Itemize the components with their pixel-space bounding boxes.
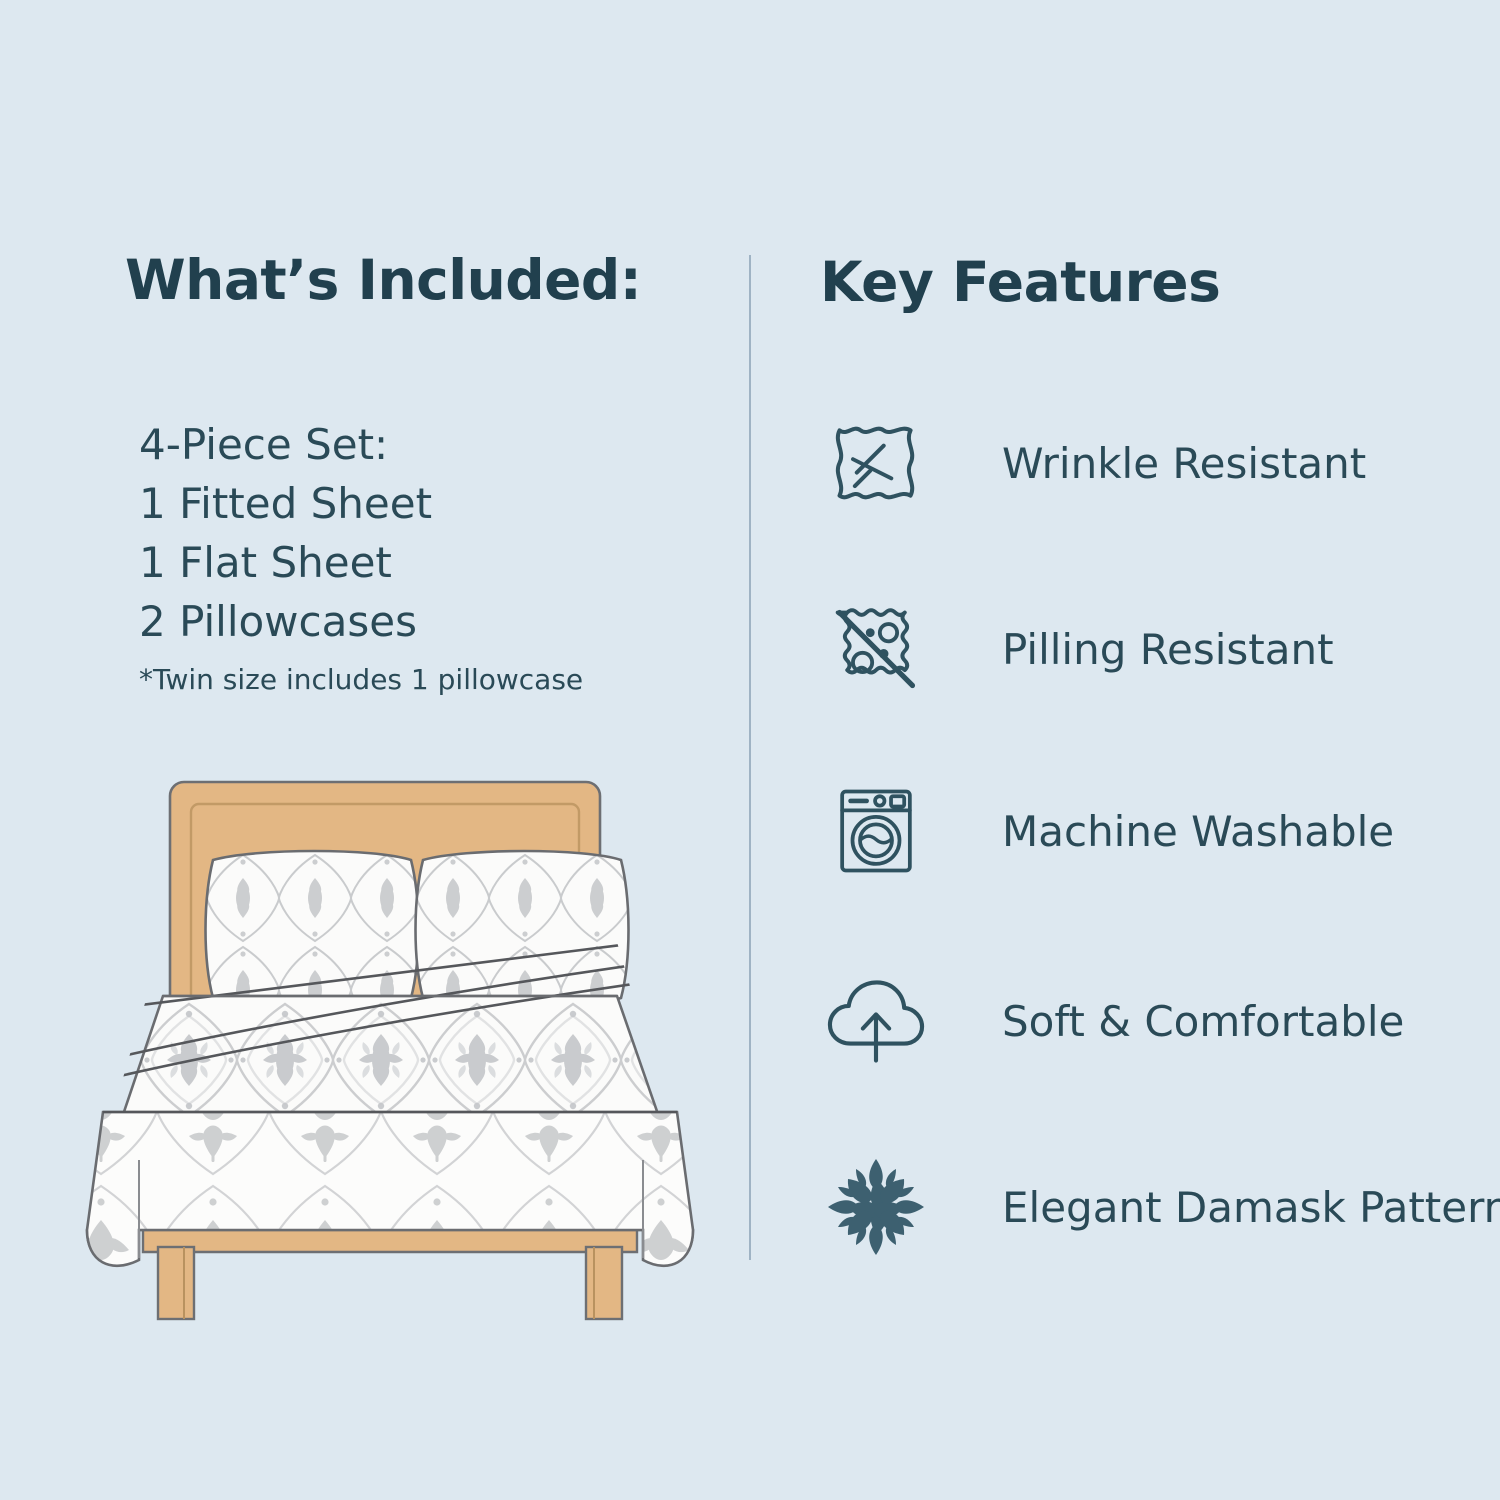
whats-included-section: What’s Included: 4-Piece Set: 1 Fitted S… bbox=[0, 0, 750, 1500]
list-item: 1 Fitted Sheet bbox=[139, 474, 699, 533]
feature-item-wrinkle-resistant: Wrinkle Resistant bbox=[822, 408, 1500, 518]
wrinkle-free-fabric-icon bbox=[822, 411, 930, 515]
no-pilling-fabric-icon bbox=[822, 597, 930, 701]
leg-right bbox=[586, 1247, 622, 1319]
feature-item-damask-pattern: Elegant Damask Pattern bbox=[822, 1152, 1500, 1262]
list-item: 4-Piece Set: bbox=[139, 415, 699, 474]
infographic-canvas: What’s Included: 4-Piece Set: 1 Fitted S… bbox=[0, 0, 1500, 1500]
soft-cloud-icon bbox=[822, 969, 930, 1073]
page-title-key-features: Key Features bbox=[820, 250, 1220, 314]
bed-illustration bbox=[45, 760, 735, 1330]
feature-item-machine-washable: Machine Washable bbox=[822, 776, 1500, 886]
damask-ornament-icon bbox=[822, 1155, 930, 1259]
feature-item-pilling-resistant: Pilling Resistant bbox=[822, 594, 1500, 704]
list-item: 2 Pillowcases bbox=[139, 592, 699, 651]
pillow-right bbox=[416, 851, 629, 1007]
included-items-list: 4-Piece Set: 1 Fitted Sheet 1 Flat Sheet… bbox=[139, 415, 699, 651]
feature-label: Pilling Resistant bbox=[1002, 625, 1334, 674]
list-item: 1 Flat Sheet bbox=[139, 533, 699, 592]
feature-label: Soft & Comfortable bbox=[1002, 997, 1404, 1046]
feature-label: Wrinkle Resistant bbox=[1002, 439, 1366, 488]
feature-label: Elegant Damask Pattern bbox=[1002, 1183, 1500, 1232]
leg-left bbox=[158, 1247, 194, 1319]
page-title-whats-included: What’s Included: bbox=[125, 248, 641, 312]
key-features-section: Key Features Wrinkle Resistant bbox=[750, 0, 1500, 1500]
twin-size-footnote: *Twin size includes 1 pillowcase bbox=[139, 663, 583, 696]
feature-label: Machine Washable bbox=[1002, 807, 1394, 856]
feature-item-soft-comfortable: Soft & Comfortable bbox=[822, 966, 1500, 1076]
washing-machine-icon bbox=[822, 779, 930, 883]
